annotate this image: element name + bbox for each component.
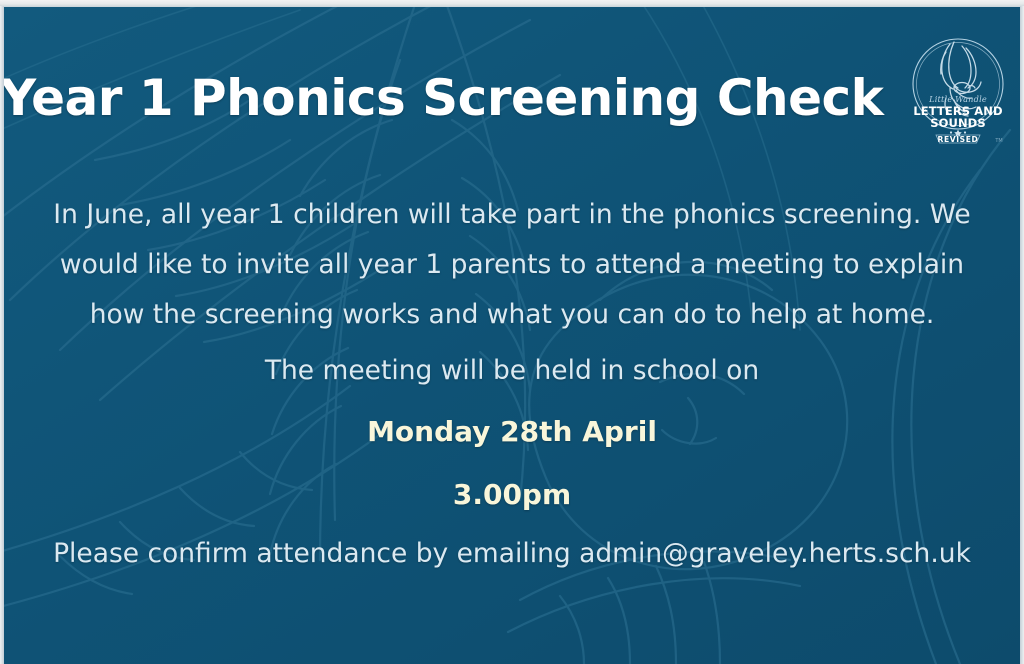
logo-brand-script: Little Wandle bbox=[928, 94, 987, 104]
logo-line2: SOUNDS bbox=[930, 116, 985, 130]
confirm-attendance-line: Please confirm attendance by emailing ad… bbox=[0, 535, 1024, 573]
meeting-date: Monday 28th April bbox=[0, 413, 1024, 451]
frame-edge-top bbox=[0, 0, 1024, 7]
little-wandle-logo: Little Wandle LETTERS AND SOUNDS REVISED… bbox=[910, 28, 1006, 146]
meeting-time: 3.00pm bbox=[0, 476, 1024, 514]
frame-edge-left bbox=[0, 6, 4, 664]
page-title: Year 1 Phonics Screening Check bbox=[0, 72, 880, 125]
svg-text:REVISED: REVISED bbox=[938, 135, 979, 144]
meeting-line: The meeting will be held in school on bbox=[0, 352, 1024, 390]
frame-edge-right bbox=[1020, 6, 1024, 664]
phonics-screening-poster: Year 1 Phonics Screening Check bbox=[0, 0, 1024, 664]
logo-revised-badge: REVISED bbox=[936, 135, 980, 144]
poster-content: Year 1 Phonics Screening Check bbox=[0, 0, 1024, 664]
intro-paragraph: In June, all year 1 children will take p… bbox=[52, 190, 972, 340]
logo-trademark: TM bbox=[994, 138, 1002, 144]
